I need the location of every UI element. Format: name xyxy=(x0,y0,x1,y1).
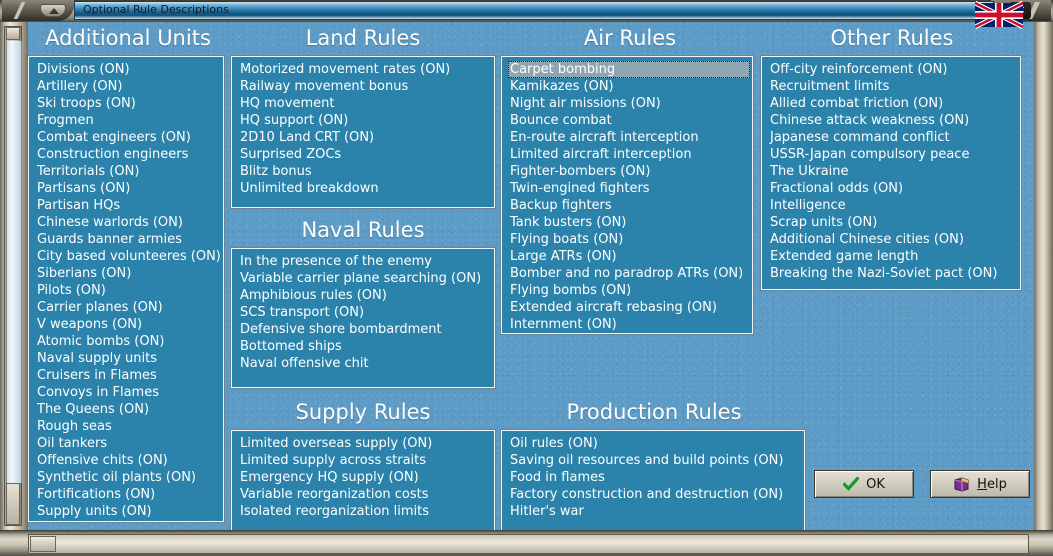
list-item[interactable]: Large ATRs (ON) xyxy=(508,248,750,265)
list-item[interactable]: Motorized movement rates (ON) xyxy=(238,61,492,78)
list-item[interactable]: Guards banner armies xyxy=(35,231,221,248)
list-item[interactable]: Surprised ZOCs xyxy=(238,146,492,163)
list-item[interactable]: Combat engineers (ON) xyxy=(35,129,221,146)
list-item[interactable]: Carrier planes (ON) xyxy=(35,299,221,316)
title-bar[interactable]: Optional Rule Descriptions xyxy=(74,1,994,20)
list-item[interactable]: V weapons (ON) xyxy=(35,316,221,333)
list-item[interactable]: HQ support (ON) xyxy=(238,112,492,129)
list-item[interactable]: Kamikazes (ON) xyxy=(508,78,750,95)
list-item[interactable]: Unlimited breakdown xyxy=(238,180,492,197)
list-item[interactable]: Extended aircraft rebasing (ON) xyxy=(508,299,750,316)
list-item[interactable]: Synthetic oil plants (ON) xyxy=(35,469,221,486)
list-item[interactable]: Pilots (ON) xyxy=(35,282,221,299)
application-window: Optional Rule Descriptions ✖ Additional … xyxy=(0,0,1053,556)
list-item[interactable]: Flying bombs (ON) xyxy=(508,282,750,299)
list-item[interactable]: Off-city reinforcement (ON) xyxy=(768,61,1018,78)
dialog-content: Additional Units Divisions (ON)Artillery… xyxy=(28,22,1034,530)
list-item[interactable]: Oil rules (ON) xyxy=(508,435,802,452)
list-item[interactable]: Limited overseas supply (ON) xyxy=(238,435,492,452)
list-item[interactable]: Night air missions (ON) xyxy=(508,95,750,112)
list-item[interactable]: Construction engineers xyxy=(35,146,221,163)
list-item[interactable]: Naval supply units xyxy=(35,350,221,367)
list-item[interactable]: Ski troops (ON) xyxy=(35,95,221,112)
help-button-label: Help xyxy=(977,477,1007,492)
list-item[interactable]: Scrap units (ON) xyxy=(768,214,1018,231)
list-item[interactable]: Recruitment limits xyxy=(768,78,1018,95)
list-other-rules[interactable]: Off-city reinforcement (ON)Recruitment l… xyxy=(761,56,1021,290)
help-button[interactable]: Help xyxy=(930,470,1030,498)
uk-flag-icon xyxy=(975,1,1023,29)
help-accel-letter: H xyxy=(977,477,987,492)
list-item[interactable]: Bottomed ships xyxy=(238,338,492,355)
list-supply-rules[interactable]: Limited overseas supply (ON)Limited supp… xyxy=(231,430,495,530)
list-item[interactable]: Rough seas xyxy=(35,418,221,435)
list-item[interactable]: Atomic bombs (ON) xyxy=(35,333,221,350)
list-item[interactable]: Oil tankers xyxy=(35,435,221,452)
list-item[interactable]: Emergency HQ supply (ON) xyxy=(238,469,492,486)
list-item[interactable]: Naval offensive chit xyxy=(238,355,492,372)
list-item[interactable]: Japanese command conflict xyxy=(768,129,1018,146)
heading-land-rules: Land Rules xyxy=(231,26,495,50)
list-item[interactable]: Carpet bombing xyxy=(508,61,750,78)
list-item[interactable]: Fighter-bombers (ON) xyxy=(508,163,750,180)
list-item[interactable]: Offensive chits (ON) xyxy=(35,452,221,469)
list-item[interactable]: Frogmen xyxy=(35,112,221,129)
window-menu-icon[interactable] xyxy=(40,4,66,17)
list-item[interactable]: Blitz bonus xyxy=(238,163,492,180)
list-additional-units[interactable]: Divisions (ON)Artillery (ON)Ski troops (… xyxy=(28,56,224,522)
list-item[interactable]: Railway movement bonus xyxy=(238,78,492,95)
list-item[interactable]: USSR-Japan compulsory peace xyxy=(768,146,1018,163)
list-item[interactable]: Siberians (ON) xyxy=(35,265,221,282)
list-item[interactable]: HQ movement xyxy=(238,95,492,112)
heading-production-rules: Production Rules xyxy=(501,400,807,424)
list-item[interactable]: Isolated reorganization limits xyxy=(238,503,492,520)
list-item[interactable]: En-route aircraft interception xyxy=(508,129,750,146)
heading-additional-units: Additional Units xyxy=(28,26,228,50)
list-item[interactable]: Variable reorganization costs xyxy=(238,486,492,503)
list-item[interactable]: Tank busters (ON) xyxy=(508,214,750,231)
list-item[interactable]: Backup fighters xyxy=(508,197,750,214)
ok-button[interactable]: OK xyxy=(814,470,914,498)
list-item[interactable]: Saving oil resources and build points (O… xyxy=(508,452,802,469)
help-label-rest: elp xyxy=(987,477,1007,492)
window-right-frame xyxy=(1034,0,1053,556)
list-item[interactable]: In the presence of the enemy xyxy=(238,253,492,270)
list-item[interactable]: Flying boats (ON) xyxy=(508,231,750,248)
window-title: Optional Rule Descriptions xyxy=(83,3,229,16)
list-item[interactable]: Food in flames xyxy=(508,469,802,486)
list-item[interactable]: Bounce combat xyxy=(508,112,750,129)
list-item[interactable]: Amphibious rules (ON) xyxy=(238,287,492,304)
list-item[interactable]: SCS transport (ON) xyxy=(238,304,492,321)
list-land-rules[interactable]: Motorized movement rates (ON)Railway mov… xyxy=(231,56,495,208)
list-item[interactable]: Limited aircraft interception xyxy=(508,146,750,163)
list-item[interactable]: Internment (ON) xyxy=(508,316,750,333)
list-production-rules[interactable]: Oil rules (ON)Saving oil resources and b… xyxy=(501,430,805,530)
window-menu-corner[interactable] xyxy=(2,0,74,21)
list-item[interactable]: Breaking the Nazi-Soviet pact (ON) xyxy=(768,265,1018,282)
list-item[interactable]: The Ukraine xyxy=(768,163,1018,180)
list-item[interactable]: Fractional odds (ON) xyxy=(768,180,1018,197)
list-item[interactable]: Divisions (ON) xyxy=(35,61,221,78)
list-item[interactable]: Bomber and no paradrop ATRs (ON) xyxy=(508,265,750,282)
list-item[interactable]: Supply units (ON) xyxy=(35,503,221,520)
check-icon xyxy=(843,477,859,491)
list-item[interactable]: Intelligence xyxy=(768,197,1018,214)
vertical-scroll-track[interactable] xyxy=(6,41,22,483)
list-item[interactable]: 2D10 Land CRT (ON) xyxy=(238,129,492,146)
window-horizontal-scrollbar[interactable] xyxy=(28,534,1029,554)
list-item[interactable]: Limited supply across straits xyxy=(238,452,492,469)
list-item[interactable]: Partisan HQs xyxy=(35,197,221,214)
heading-air-rules: Air Rules xyxy=(501,26,759,50)
list-item[interactable]: Factory construction and destruction (ON… xyxy=(508,486,802,503)
book-icon xyxy=(953,477,970,492)
list-item[interactable]: Fortifications (ON) xyxy=(35,486,221,503)
list-item[interactable]: Variable carrier plane searching (ON) xyxy=(238,270,492,287)
vertical-scroll-thumb[interactable] xyxy=(6,483,20,525)
list-air-rules[interactable]: Carpet bombingKamikazes (ON)Night air mi… xyxy=(501,56,753,334)
list-item[interactable]: Chinese warlords (ON) xyxy=(35,214,221,231)
list-item[interactable]: Territorials (ON) xyxy=(35,163,221,180)
list-item[interactable]: Defensive shore bombardment xyxy=(238,321,492,338)
corner-stripe-decoration xyxy=(12,2,28,19)
list-item[interactable]: Convoys in Flames xyxy=(35,384,221,401)
list-item[interactable]: Partisans (ON) xyxy=(35,180,221,197)
list-item[interactable]: Artillery (ON) xyxy=(35,78,221,95)
list-item[interactable]: Chinese attack weakness (ON) xyxy=(768,112,1018,129)
list-item[interactable]: Additional Chinese cities (ON) xyxy=(768,231,1018,248)
list-item[interactable]: City based volunteeres (ON) xyxy=(35,248,221,265)
heading-naval-rules: Naval Rules xyxy=(231,218,495,242)
list-naval-rules[interactable]: In the presence of the enemyVariable car… xyxy=(231,248,495,388)
list-item[interactable]: Extended game length xyxy=(768,248,1018,265)
list-item[interactable]: Hitler's war xyxy=(508,503,802,520)
scroll-up-button[interactable] xyxy=(6,27,20,40)
list-item[interactable]: Allied combat friction (ON) xyxy=(768,95,1018,112)
ok-button-label: OK xyxy=(866,477,885,492)
heading-other-rules: Other Rules xyxy=(761,26,1023,50)
horizontal-scroll-thumb[interactable] xyxy=(30,536,56,552)
list-item[interactable]: Cruisers in Flames xyxy=(35,367,221,384)
list-item[interactable]: The Queens (ON) xyxy=(35,401,221,418)
window-vertical-scrollbar[interactable] xyxy=(4,26,22,526)
list-item[interactable]: Twin-engined fighters xyxy=(508,180,750,197)
heading-supply-rules: Supply Rules xyxy=(231,400,495,424)
